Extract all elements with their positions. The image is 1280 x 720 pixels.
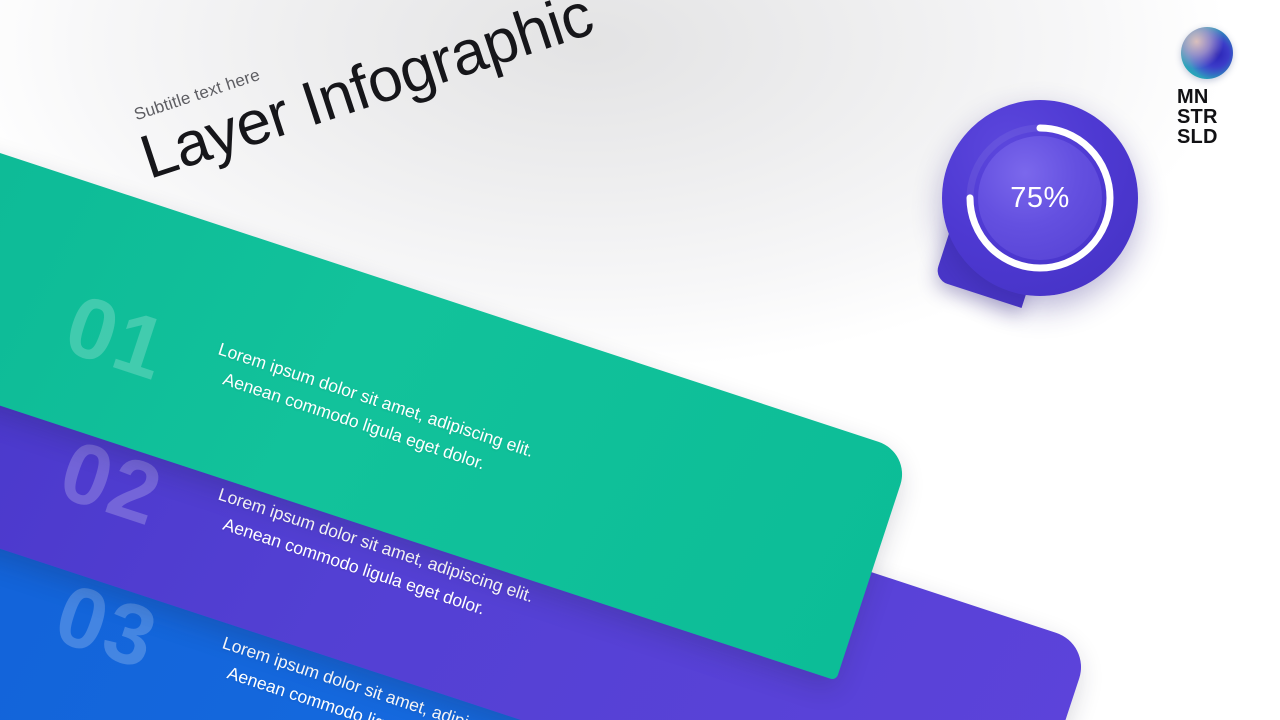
badge-inner-disc: 75% <box>978 136 1102 260</box>
gradient-sphere-icon <box>1181 27 1233 79</box>
progress-value-label: 75% <box>1010 182 1070 215</box>
brand-line-3: SLD <box>1177 127 1263 147</box>
brand-logo[interactable]: MN STR SLD <box>1177 27 1263 147</box>
brand-wordmark: MN STR SLD <box>1177 87 1263 147</box>
brand-line-1: MN <box>1177 87 1263 107</box>
slide-canvas: 01 Lorem ipsum dolor sit amet, adipiscin… <box>0 0 1280 720</box>
progress-badge[interactable]: 75% <box>942 100 1138 296</box>
brand-line-2: STR <box>1177 107 1263 127</box>
layer-number-01: 01 <box>56 281 178 394</box>
layer-copy-01: Lorem ipsum dolor sit amet, adipiscing e… <box>206 336 537 490</box>
